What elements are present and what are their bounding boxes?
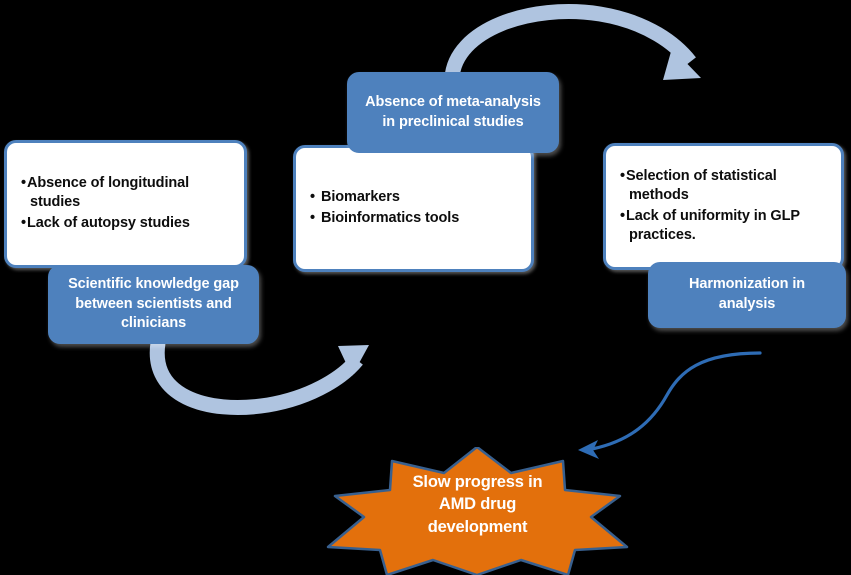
list-item: Lack of uniformity in GLP practices. — [620, 207, 831, 246]
label-text: Harmonization in analysis — [649, 275, 845, 314]
label-meta-analysis[interactable]: Absence of meta-analysis in preclinical … — [347, 72, 559, 153]
list-item: Absence of longitudinal studies — [21, 174, 234, 213]
outcome-line: development — [325, 516, 630, 538]
outcome-line: Slow progress in — [325, 471, 630, 493]
card-longitudinal-studies[interactable]: Absence of longitudinal studies Lack of … — [4, 140, 247, 268]
list-item: Lack of autopsy studies — [21, 214, 234, 233]
list-item: Bioinformatics tools — [310, 209, 521, 228]
bottom-left-curved-arrow — [157, 343, 369, 407]
label-knowledge-gap[interactable]: Scientific knowledge gap between scienti… — [48, 265, 259, 344]
outcome-star[interactable]: Slow progress in AMD drug development — [325, 447, 630, 575]
list-item: Selection of statistical methods — [620, 167, 831, 206]
bullet-list-statistical: Selection of statistical methods Lack of… — [606, 167, 841, 246]
top-curved-arrow — [452, 12, 701, 80]
label-text: Scientific knowledge gap between scienti… — [49, 275, 258, 334]
outcome-star-label: Slow progress in AMD drug development — [325, 471, 630, 538]
card-biomarkers[interactable]: Biomarkers Bioinformatics tools — [293, 145, 534, 272]
bullet-list-longitudinal: Absence of longitudinal studies Lack of … — [7, 174, 244, 234]
label-text: Absence of meta-analysis in preclinical … — [348, 93, 558, 132]
list-item: Biomarkers — [310, 188, 521, 207]
bullet-list-biomarkers: Biomarkers Bioinformatics tools — [296, 188, 531, 229]
label-harmonization[interactable]: Harmonization in analysis — [648, 262, 846, 328]
outcome-arrow — [578, 353, 760, 459]
card-statistical-methods[interactable]: Selection of statistical methods Lack of… — [603, 143, 844, 270]
outcome-line: AMD drug — [325, 493, 630, 515]
diagram-canvas: Absence of longitudinal studies Lack of … — [0, 0, 851, 575]
